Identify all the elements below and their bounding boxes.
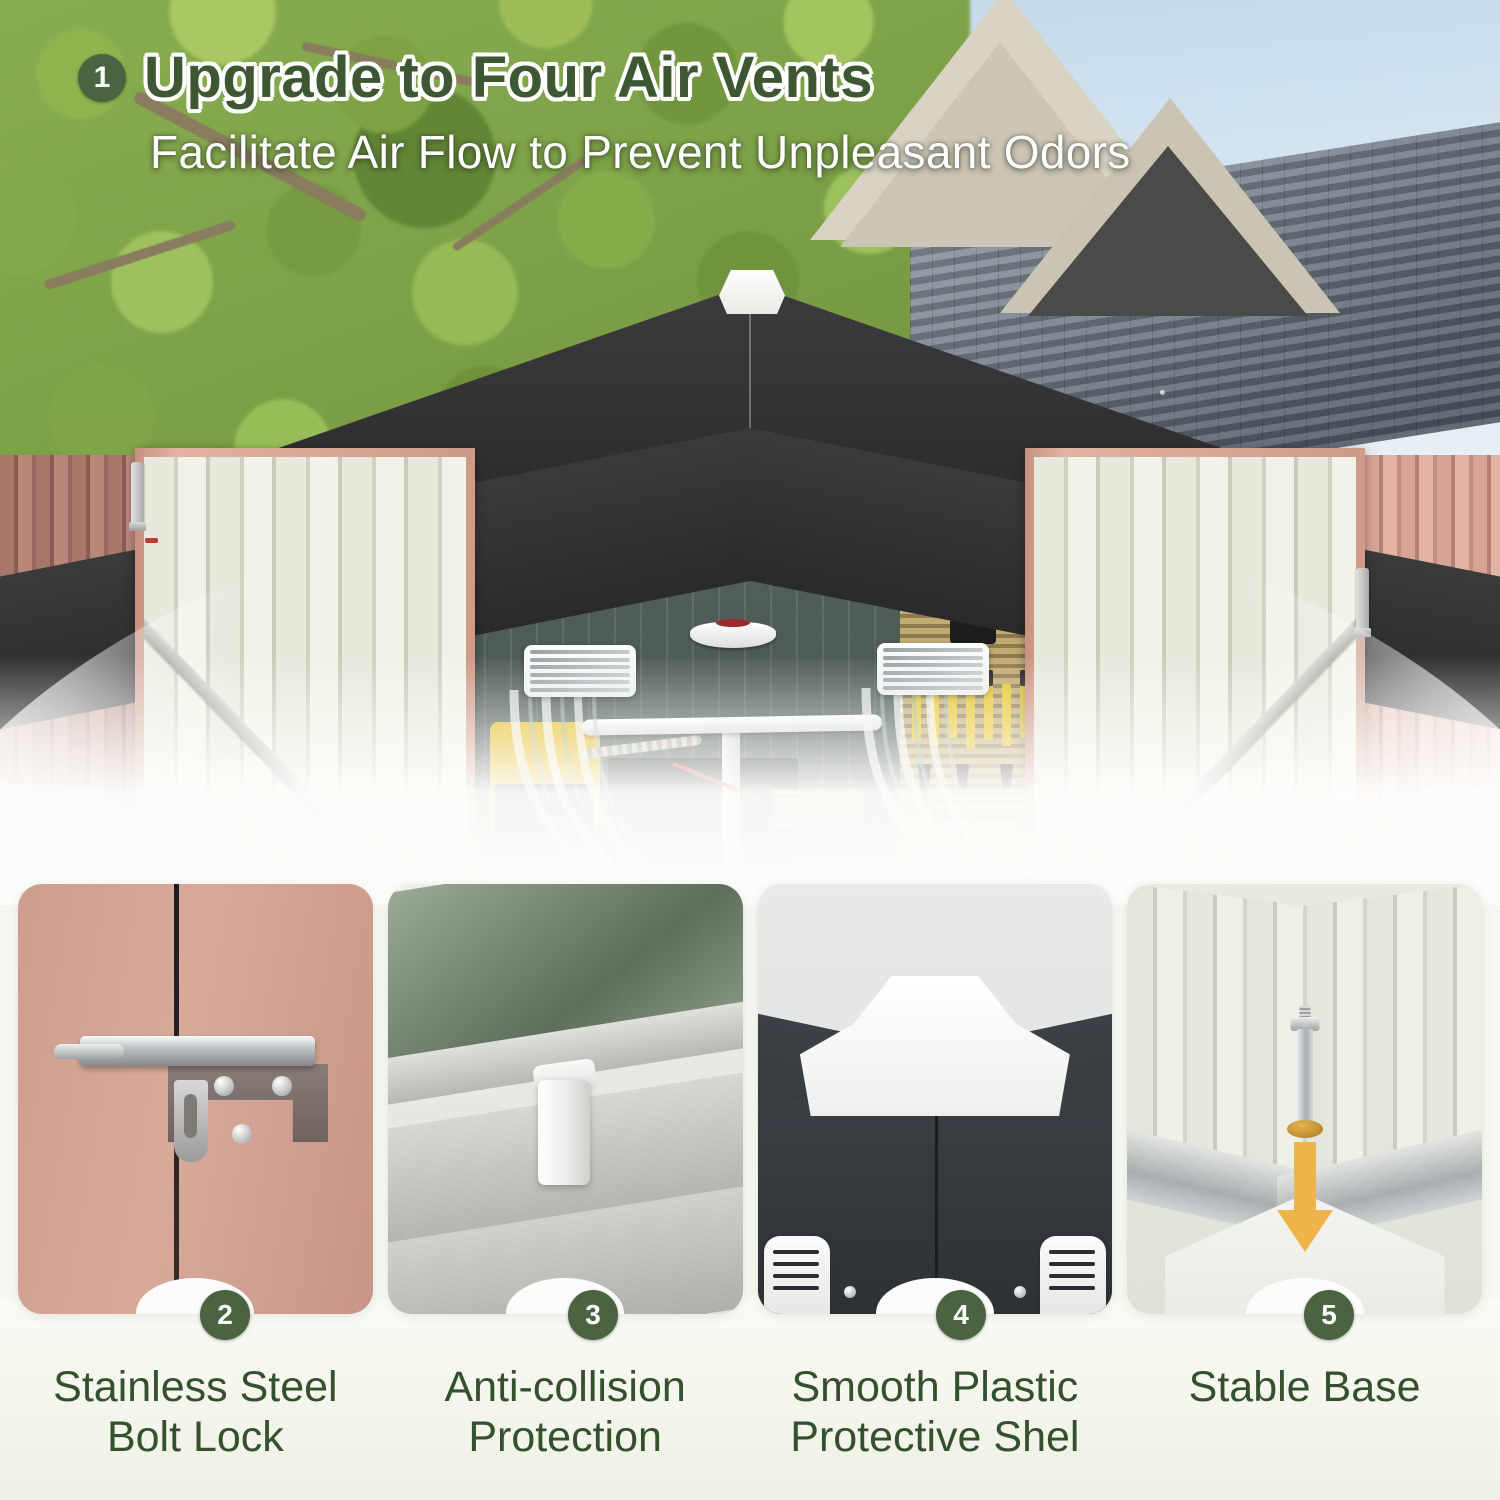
roof-vent-left — [764, 1236, 830, 1314]
feature-card-anti-collision[interactable] — [388, 884, 743, 1314]
page-title: Upgrade to Four Air Vents — [144, 48, 873, 109]
caption-stable-base: Stable Base — [1127, 1318, 1482, 1500]
header-block: 1 Upgrade to Four Air Vents Facilitate A… — [0, 48, 1500, 179]
caption-line-2: Bolt Lock — [18, 1412, 373, 1462]
anchor-bolt — [1296, 1029, 1313, 1124]
step-badge-1: 1 — [78, 54, 126, 102]
step-badge-4: 4 — [936, 1290, 986, 1340]
bolt-screw — [232, 1124, 252, 1144]
roof-screw — [1160, 390, 1165, 395]
caption-line-2: Protection — [388, 1412, 743, 1462]
step-badge-3: 3 — [568, 1290, 618, 1340]
caption-line-1: Stainless Steel — [18, 1362, 373, 1412]
white-fade-gradient — [0, 655, 1500, 905]
roof-vent-right — [1040, 1236, 1106, 1314]
door-latch-marker — [145, 538, 158, 543]
anchor-washer — [1287, 1120, 1323, 1138]
caption-plastic-shell: Smooth Plastic Protective Shel — [758, 1318, 1113, 1500]
caption-bolt-lock: Stainless Steel Bolt Lock — [18, 1318, 373, 1500]
caption-line-1: Smooth Plastic — [758, 1362, 1113, 1412]
caption-line-1: Anti-collision — [388, 1362, 743, 1412]
plastic-protective-cap — [800, 976, 1070, 1116]
bolt-lock-rod — [54, 1044, 124, 1059]
door-hinge — [131, 462, 144, 524]
caption-line-2: Protective Shel — [758, 1412, 1113, 1462]
roof-ridge-cap — [719, 270, 785, 314]
feature-card-bolt-lock[interactable] — [18, 884, 373, 1314]
title-row: 1 Upgrade to Four Air Vents — [0, 48, 1500, 109]
caption-line-1: Stable Base — [1127, 1362, 1482, 1412]
door-hinge-pin — [129, 522, 146, 531]
plastic-bumper — [538, 1080, 590, 1185]
down-arrow-icon — [1277, 1142, 1333, 1252]
feature-card-stable-base[interactable] — [1127, 884, 1482, 1314]
infographic-page: 1 Upgrade to Four Air Vents Facilitate A… — [0, 0, 1500, 1500]
bolt-screw — [214, 1076, 234, 1096]
feature-card-row — [0, 884, 1500, 1314]
roof-screw — [844, 1286, 856, 1298]
bolt-lock-hasp — [174, 1080, 208, 1162]
feature-card-plastic-shell[interactable] — [758, 884, 1113, 1314]
caption-anti-collision: Anti-collision Protection — [388, 1318, 743, 1500]
door-hinge — [1356, 568, 1369, 630]
step-badge-2: 2 — [200, 1290, 250, 1340]
step-badge-5: 5 — [1304, 1290, 1354, 1340]
page-subtitle: Facilitate Air Flow to Prevent Unpleasan… — [0, 125, 1500, 179]
caption-row: Stainless Steel Bolt Lock Anti-collision… — [0, 1318, 1500, 1500]
bolt-screw — [272, 1076, 292, 1096]
